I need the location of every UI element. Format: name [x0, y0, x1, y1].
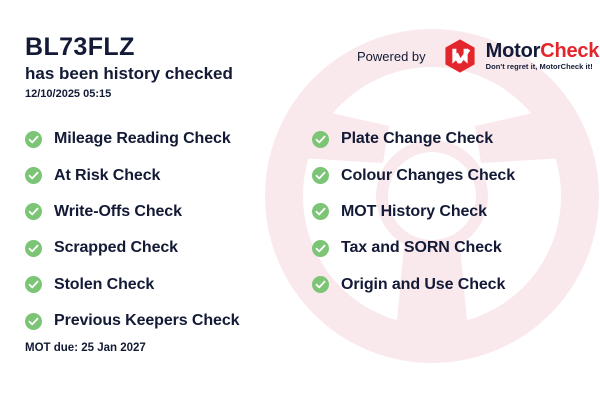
- brand-wordmark: MotorCheck Don't regret it, MotorCheck i…: [486, 41, 600, 71]
- list-item: Write-Offs Check: [25, 194, 239, 230]
- green-check-circle-icon: [312, 240, 329, 257]
- check-item-label: Scrapped Check: [54, 239, 178, 257]
- powered-by-label: Powered by: [357, 49, 426, 64]
- check-item-label: Previous Keepers Check: [54, 312, 239, 330]
- list-item: Scrapped Check: [25, 230, 239, 266]
- green-check-circle-icon: [25, 240, 42, 257]
- brand-name: MotorCheck: [486, 41, 600, 61]
- check-item-label: Tax and SORN Check: [341, 239, 502, 257]
- mot-due-text: MOT due: 25 Jan 2027: [25, 342, 146, 354]
- list-item: Plate Change Check: [312, 121, 515, 157]
- list-item: Previous Keepers Check: [25, 303, 239, 339]
- brand-tagline: Don't regret it, MotorCheck it!: [486, 63, 600, 71]
- list-item: Origin and Use Check: [312, 267, 515, 303]
- check-item-label: Write-Offs Check: [54, 203, 182, 221]
- green-check-circle-icon: [25, 276, 42, 293]
- check-list-left: Mileage Reading Check At Risk Check Writ…: [25, 121, 239, 339]
- green-check-circle-icon: [25, 167, 42, 184]
- check-item-label: Mileage Reading Check: [54, 130, 231, 148]
- check-item-label: Stolen Check: [54, 276, 154, 294]
- green-check-circle-icon: [312, 276, 329, 293]
- list-item: MOT History Check: [312, 194, 515, 230]
- motorcheck-hexagon-m-icon: [442, 38, 478, 74]
- green-check-circle-icon: [312, 131, 329, 148]
- header-block: BL73FLZ has been history checked 12/10/2…: [25, 33, 233, 100]
- registration-number: BL73FLZ: [25, 33, 233, 63]
- list-item: At Risk Check: [25, 157, 239, 193]
- check-item-label: MOT History Check: [341, 203, 487, 221]
- brand-name-primary: Motor: [486, 40, 541, 62]
- green-check-circle-icon: [25, 203, 42, 220]
- list-item: Colour Changes Check: [312, 157, 515, 193]
- green-check-circle-icon: [312, 203, 329, 220]
- page-title: has been history checked: [25, 63, 233, 86]
- list-item: Tax and SORN Check: [312, 230, 515, 266]
- list-item: Mileage Reading Check: [25, 121, 239, 157]
- green-check-circle-icon: [312, 167, 329, 184]
- check-item-label: Plate Change Check: [341, 130, 493, 148]
- brand-lockup: Powered by MotorCheck Don't regret it, M…: [357, 38, 599, 74]
- list-item: Stolen Check: [25, 267, 239, 303]
- check-list-right: Plate Change Check Colour Changes Check …: [312, 121, 515, 303]
- check-item-label: At Risk Check: [54, 167, 160, 185]
- check-item-label: Origin and Use Check: [341, 276, 505, 294]
- vehicle-history-check-card: BL73FLZ has been history checked 12/10/2…: [0, 0, 600, 400]
- brand-name-secondary: Check: [540, 40, 599, 62]
- green-check-circle-icon: [25, 131, 42, 148]
- check-item-label: Colour Changes Check: [341, 167, 515, 185]
- check-timestamp: 12/10/2025 05:15: [25, 88, 233, 100]
- green-check-circle-icon: [25, 313, 42, 330]
